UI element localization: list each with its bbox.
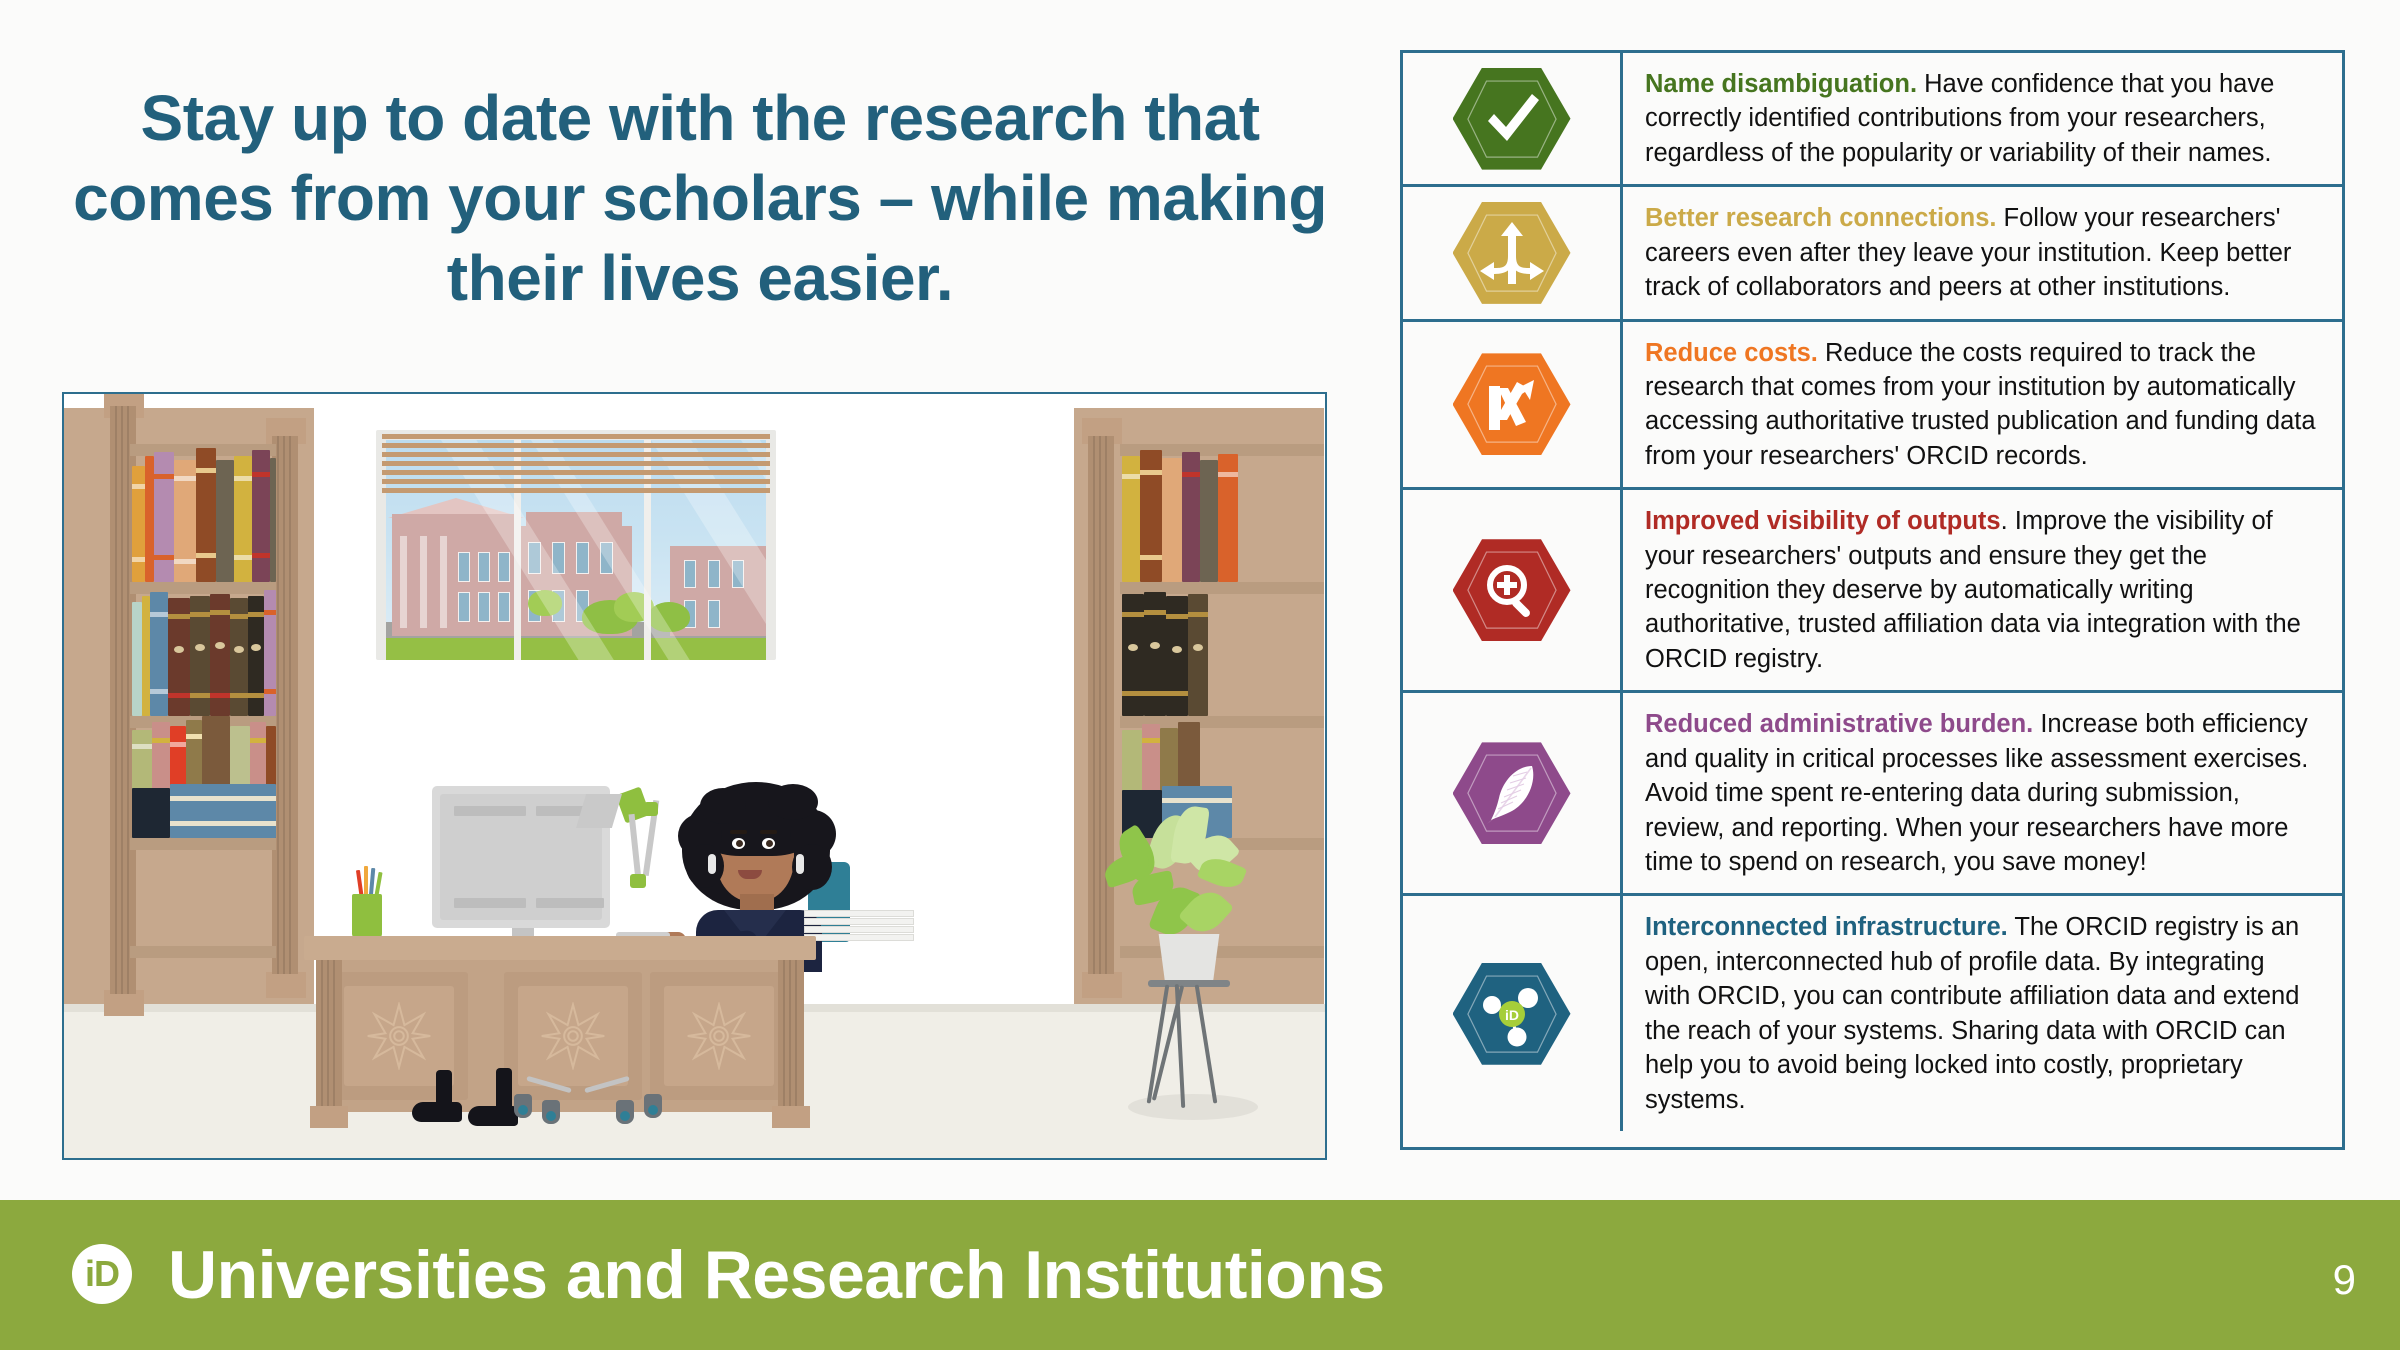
building-window [478,592,490,622]
footer-bar: iD Universities and Research Institution… [0,1200,2400,1350]
benefit-text: Reduce costs. Reduce the costs required … [1645,336,2316,474]
orcid-id-icon: iD [72,1244,132,1304]
benefit-title: Reduce costs. [1645,339,1818,367]
text-cell: Reduced administrative burden. Increase … [1623,693,2342,893]
building-column [420,536,427,628]
rosette-carving [685,1002,753,1070]
benefit-text: Interconnected infrastructure. The ORCID… [1645,910,2316,1117]
building-window [458,592,470,622]
office-illustration [64,394,1325,1158]
book-stack [804,910,914,940]
lamp-joint [630,874,646,888]
benefit-title: Improved visibility of outputs [1645,507,2001,535]
table-row: Reduce costs. Reduce the costs required … [1403,322,2342,491]
connected-nodes-orcid-icon: iD [1453,963,1571,1065]
check-mark-icon [1453,68,1571,170]
benefit-title: Reduced administrative burden. [1645,710,2033,738]
pencil-cup [352,894,382,938]
rosette-carving [365,1002,433,1070]
chair-castor [514,1094,532,1118]
building-window [684,560,696,588]
window [376,430,776,660]
building-window [498,592,510,622]
icon-cell: iD [1403,896,1623,1131]
chair-castor [616,1100,634,1124]
svg-text:iD: iD [1505,1007,1519,1023]
desk-leg [778,960,804,1128]
chair-castor [644,1094,662,1118]
page-number: 9 [2333,1256,2356,1304]
table-row: Reduced administrative burden. Increase … [1403,693,2342,896]
icon-cell [1403,53,1623,184]
building-window [478,552,490,582]
building-column [400,536,407,628]
shoe [412,1102,462,1122]
shoe [468,1106,518,1126]
feather-quill-icon [1453,742,1571,844]
building-window [498,552,510,582]
plant-stand-ring [1148,980,1230,987]
text-cell: Better research connections. Follow your… [1623,187,2342,318]
magnifier-plus-icon [1453,539,1571,641]
benefit-text: Name disambiguation. Have confidence tha… [1645,67,2316,170]
plant-pot [1156,934,1222,984]
footer-title: Universities and Research Institutions [168,1236,1385,1314]
benefit-text: Reduced administrative burden. Increase … [1645,707,2316,879]
benefits-table: Name disambiguation. Have confidence tha… [1400,50,2345,1150]
text-cell: Name disambiguation. Have confidence tha… [1623,53,2342,184]
building-window [708,560,720,588]
earring [796,854,804,874]
earring [708,854,716,874]
pencil [364,866,368,896]
icon-cell [1403,187,1623,318]
table-row: Better research connections. Follow your… [1403,187,2342,321]
illustration-frame [62,392,1327,1160]
icon-cell [1403,693,1623,893]
benefit-title-suffix: . [2001,507,2008,535]
building-window [458,552,470,582]
text-cell: Improved visibility of outputs. Improve … [1623,490,2342,690]
table-row: Improved visibility of outputs. Improve … [1403,490,2342,693]
left-column: Stay up to date with the research that c… [0,0,1390,1200]
benefit-title: Better research connections. [1645,204,1996,232]
benefit-body: The ORCID registry is an open, interconn… [1645,913,2299,1113]
upward-zigzag-arrow-icon [1453,353,1571,455]
bookshelf-left [64,394,344,1034]
benefit-title: Name disambiguation. [1645,70,1917,98]
page-title: Stay up to date with the research that c… [60,78,1340,318]
desk-foot [310,1106,348,1128]
desk-panel [650,972,788,1100]
desk-leg [316,960,342,1128]
potted-plant [1104,794,1284,1124]
table-row: iD Interconnected infrastructure. The OR… [1403,896,2342,1131]
icon-cell [1403,322,1623,488]
slide: Stay up to date with the research that c… [0,0,2400,1350]
building-window [708,600,720,628]
benefit-text: Better research connections. Follow your… [1645,201,2316,304]
text-cell: Interconnected infrastructure. The ORCID… [1623,896,2342,1131]
building-column [440,536,447,628]
chair-castor [542,1100,560,1124]
benefit-title: Interconnected infrastructure. [1645,913,2008,941]
lamp-joint [644,802,658,816]
building-window [576,542,589,574]
window-blinds [382,434,770,496]
plant-stand-leg [1195,984,1218,1103]
table-row: Name disambiguation. Have confidence tha… [1403,53,2342,187]
rosette-carving [539,1002,607,1070]
desk-foot [772,1106,810,1128]
icon-cell [1403,490,1623,690]
text-cell: Reduce costs. Reduce the costs required … [1623,322,2342,488]
desk-top [304,936,816,960]
branching-arrows-icon [1453,202,1571,304]
monitor-screen [440,794,602,920]
benefit-text: Improved visibility of outputs. Improve … [1645,504,2316,676]
